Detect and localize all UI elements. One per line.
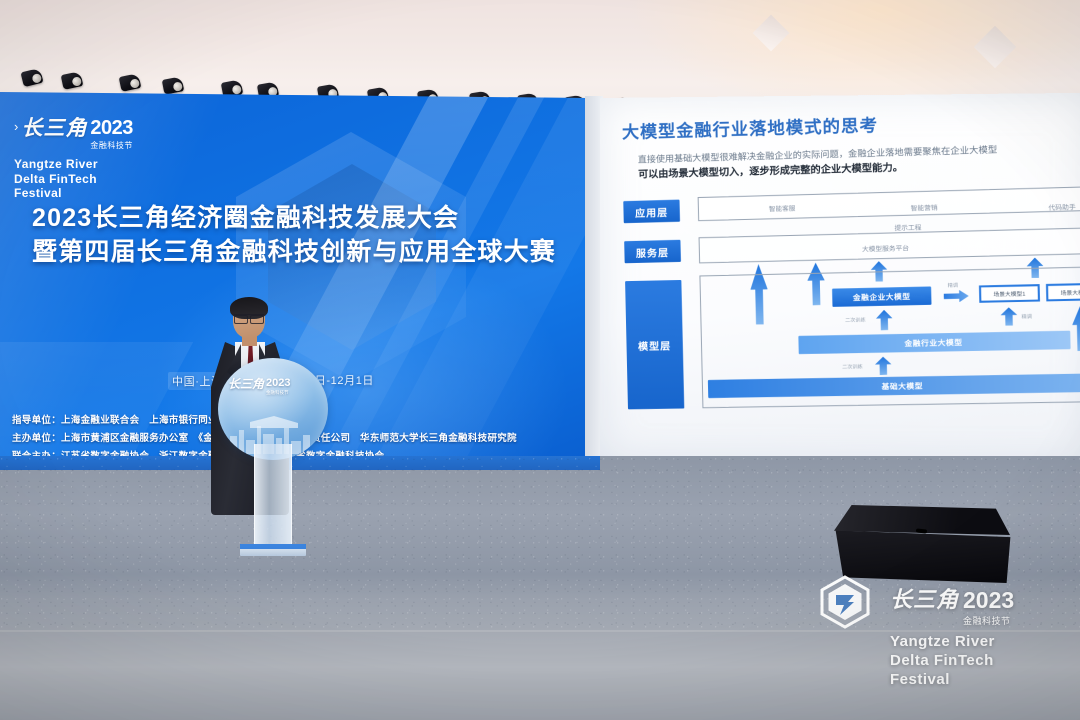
glasses-icon: [234, 314, 264, 321]
conference-stage-photo: › 长三角 2023 金融科技节 Yangtze River Delta Fin…: [0, 0, 1080, 720]
layer-tag-model: 模型层: [625, 280, 684, 409]
slide-title: 大模型金融行业落地模式的思考: [622, 111, 878, 143]
podium-logo-sub: 金融科技节: [266, 390, 289, 396]
event-title-line2: 暨第四届长三角金融科技创新与应用全球大赛: [32, 236, 532, 270]
logo-en-line2: Delta FinTech: [14, 172, 133, 187]
layer-tag-application: 应用层: [623, 200, 680, 224]
slide-subtitle: 直接使用基础大模型很难解决金融企业的实际问题，金融企业落地需要聚焦在企业大模型 …: [638, 139, 1080, 184]
podium-logo-year: 2023: [266, 378, 290, 389]
watermark-en-line3: Festival: [890, 670, 1014, 689]
podium-stem: [254, 444, 292, 546]
layer-tag-service: 服务层: [624, 240, 681, 263]
app-item-2: 代码助手: [1048, 201, 1076, 212]
logo-en-line3: Festival: [14, 186, 133, 201]
watermark-year: 2023: [963, 589, 1014, 612]
stage-light-icon: [162, 76, 184, 95]
scene-model-box-2: 场景大模型2: [1046, 283, 1080, 302]
logo-name-cn: 长三角: [21, 118, 87, 139]
logo-year: 2023: [90, 118, 133, 138]
watermark-sub-cn: 金融科技节: [963, 614, 1011, 627]
anno-retrain-1: 二次训练: [842, 363, 863, 370]
podium-logo-cn: 长三角: [228, 378, 264, 390]
backdrop-festival-logo: › 长三角 2023 金融科技节 Yangtze River Delta Fin…: [14, 118, 133, 201]
app-item-1: 智能营销: [910, 202, 937, 213]
anno-retrain-0: 二次训练: [845, 316, 866, 324]
watermark-en-line1: Yangtze River: [890, 632, 1014, 651]
anno-finetune-0: 精调: [948, 282, 959, 289]
watermark-text: 长三角 2023 金融科技节 Yangtze River Delta FinTe…: [890, 589, 1014, 690]
stage-light-icon: [61, 71, 84, 90]
monitor-handle-slot: [916, 528, 927, 533]
stage-light-icon: [119, 73, 142, 92]
anno-finetune-1: 精调: [1021, 313, 1032, 320]
slide-diagram: 应用层 智能客服 智能营销 代码助手 提示工程 服务层 大模型服务平台 模型层 …: [617, 186, 1080, 450]
watermark-branding: 长三角 2023 金融科技节 Yangtze River Delta FinTe…: [818, 575, 1068, 705]
podium-base-accent: [240, 544, 306, 549]
stage-light-icon: [20, 68, 43, 87]
presentation-screen: 大模型金融行业落地模式的思考 直接使用基础大模型很难解决金融企业的实际问题，金融…: [600, 93, 1080, 470]
logo-en-line1: Yangtze River: [14, 157, 133, 172]
layer-row-application: [698, 186, 1080, 221]
event-title-line1: 2023长三角经济圈金融科技发展大会: [32, 202, 532, 236]
stage-monitor-speaker: [828, 505, 1018, 585]
logo-arrow-icon: ›: [14, 118, 18, 136]
event-title: 2023长三角经济圈金融科技发展大会 暨第四届长三角金融科技创新与应用全球大赛: [32, 202, 532, 270]
app-item-0: 智能客服: [769, 202, 796, 213]
service-item-0: 大模型服务平台: [862, 242, 909, 253]
watermark-en-line2: Delta FinTech: [890, 651, 1014, 670]
scene-model-box-1: 场景大模型1: [979, 284, 1040, 303]
watermark-name-cn: 长三角: [890, 589, 959, 611]
model-box-enterprise: 金融企业大模型: [832, 287, 931, 307]
logo-sub-cn: 金融科技节: [90, 140, 133, 151]
podium: 长三角 2023 金融科技节: [218, 358, 328, 563]
podium-branding: 长三角 2023 金融科技节: [228, 378, 320, 396]
hexagon-logo-mark-icon: [818, 575, 872, 629]
app-note: 提示工程: [894, 222, 921, 233]
